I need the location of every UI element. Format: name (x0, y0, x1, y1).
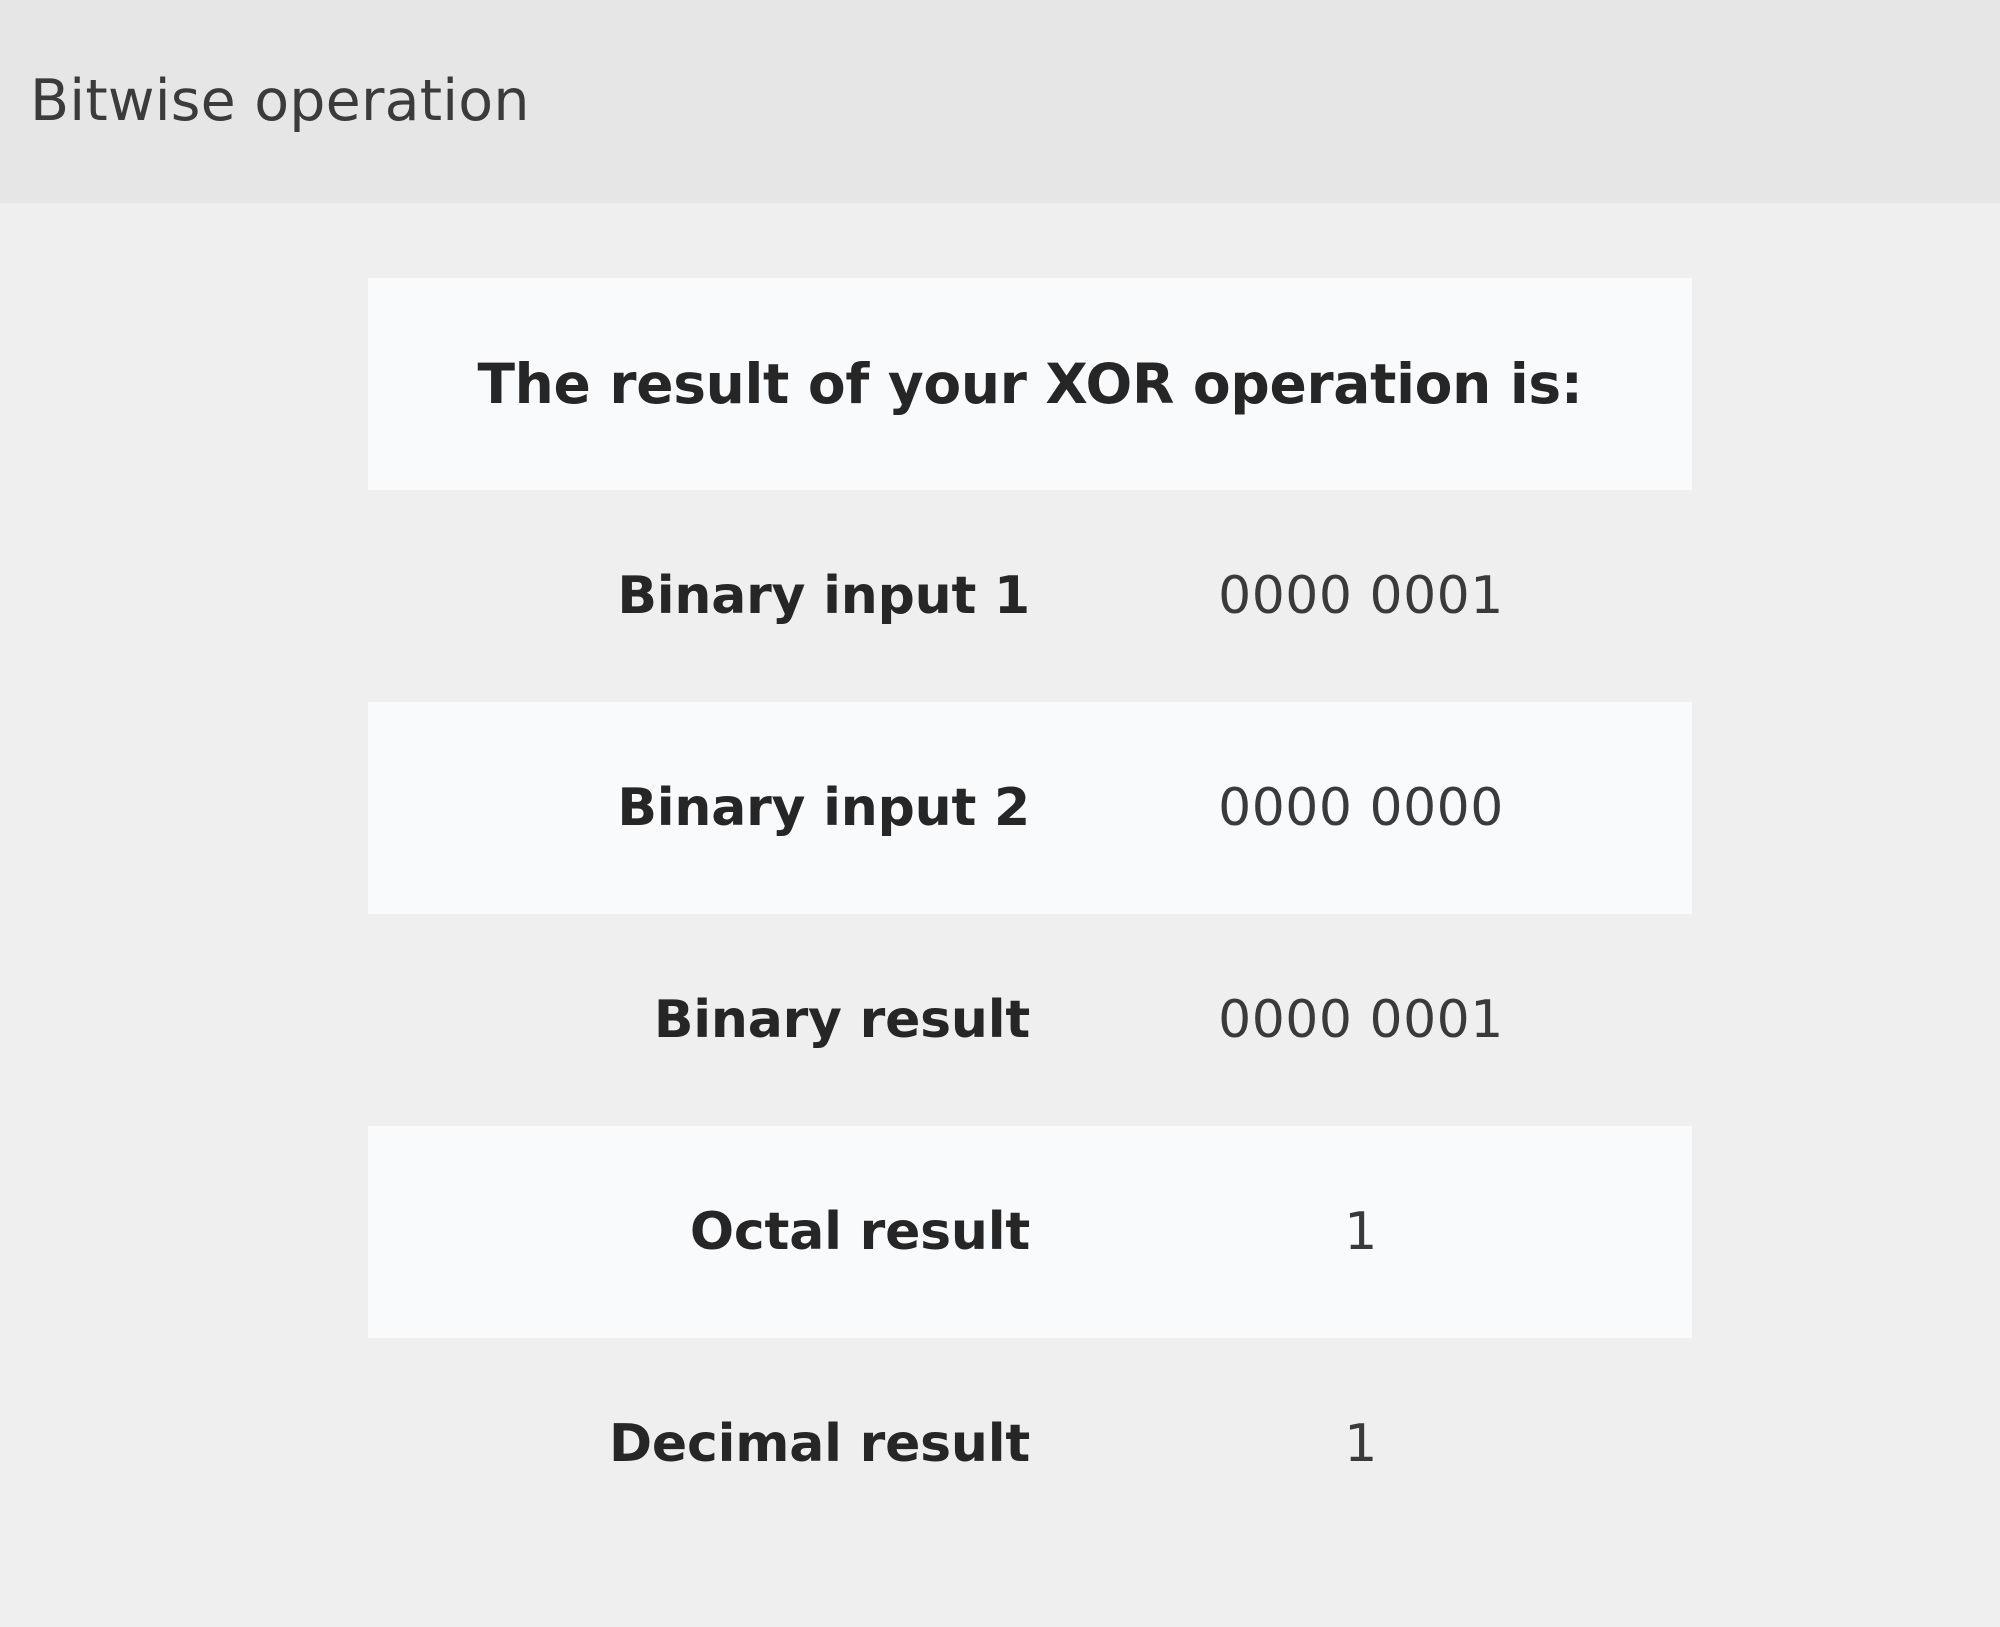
table-row: Octal result 1 (368, 1126, 1692, 1338)
row-value-binary-input-1: 0000 0001 (1030, 490, 1692, 702)
table-row: Binary input 2 0000 0000 (368, 702, 1692, 914)
row-label-binary-input-2: Binary input 2 (368, 702, 1030, 914)
row-value-octal-result: 1 (1030, 1126, 1692, 1338)
table-row: Decimal result 1 (368, 1338, 1692, 1550)
table-row: Binary result 0000 0001 (368, 914, 1692, 1126)
row-value-binary-result: 0000 0001 (1030, 914, 1692, 1126)
row-value-decimal-result: 1 (1030, 1338, 1692, 1550)
row-value-binary-input-2: 0000 0000 (1030, 702, 1692, 914)
page-title: Bitwise operation (30, 73, 530, 130)
result-caption: The result of your XOR operation is: (368, 278, 1692, 490)
row-label-decimal-result: Decimal result (368, 1338, 1030, 1550)
app-header-bar: Bitwise operation (0, 0, 2000, 203)
row-label-binary-input-1: Binary input 1 (368, 490, 1030, 702)
main-content: The result of your XOR operation is: Bin… (0, 203, 2000, 1627)
table-caption-row: The result of your XOR operation is: (368, 278, 1692, 490)
row-label-binary-result: Binary result (368, 914, 1030, 1126)
table-row: Binary input 1 0000 0001 (368, 490, 1692, 702)
bitwise-result-table: The result of your XOR operation is: Bin… (368, 278, 1692, 1550)
row-label-octal-result: Octal result (368, 1126, 1030, 1338)
